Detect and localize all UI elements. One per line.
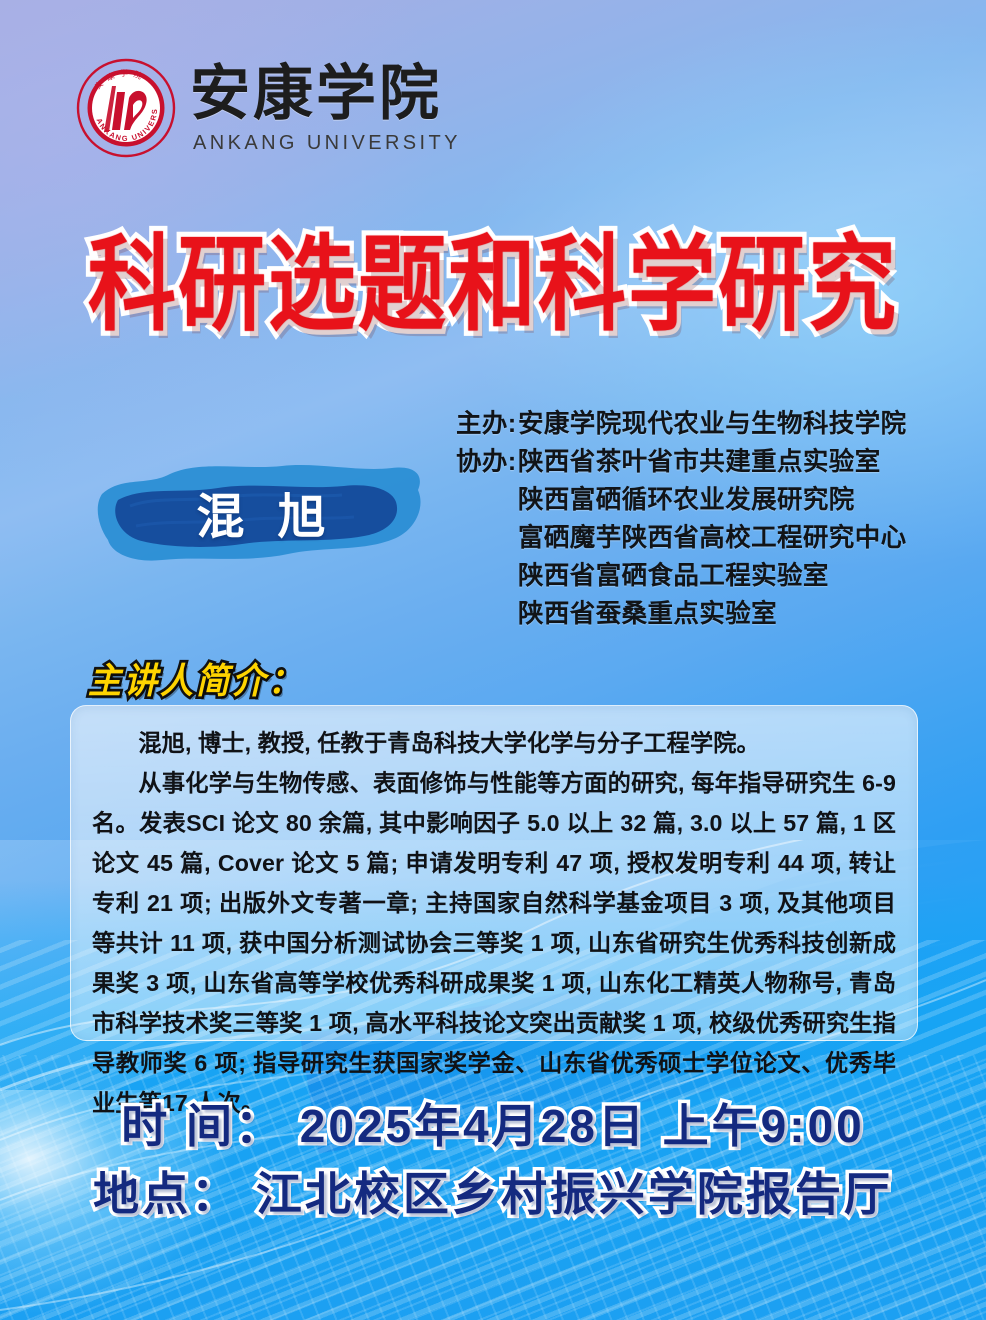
organizer-value: 安康学院现代农业与生物科技学院 [518,405,907,443]
organizer-row: 协办: 陕西省茶叶省市共建重点实验室 [456,443,926,481]
event-time: 时 间： 2025年4月28日 上午9:00 [0,1092,986,1160]
organizer-row: 主办: 安康学院现代农业与生物科技学院 [456,405,926,443]
logo-name-cn: 安康学院 [190,64,461,124]
organizer-value: 陕西省蚕桑重点实验室 [518,595,777,633]
organizer-list: 主办: 安康学院现代农业与生物科技学院 协办: 陕西省茶叶省市共建重点实验室 陕… [456,405,926,633]
organizer-value: 富硒魔芋陕西省高校工程研究中心 [518,519,907,557]
section-heading-speaker-bio: 主讲人简介： [88,652,304,704]
event-place: 地点： 江北校区乡村振兴学院报告厅 [0,1160,986,1228]
organizer-label: 协办: [456,443,518,481]
organizer-row: 富硒魔芋陕西省高校工程研究中心 [456,519,926,557]
speaker-bio-box: 混旭, 博士, 教授, 任教于青岛科技大学化学与分子工程学院。 从事化学与生物传… [70,705,918,1041]
poster-canvas: 安康学院 ANKANG UNIVERSITY 安康学院 ANKANG UNIVE… [0,0,986,1320]
logo-name-en: ANKANG UNIVERSITY [193,133,461,153]
bio-paragraph: 混旭, 博士, 教授, 任教于青岛科技大学化学与分子工程学院。 [92,723,896,763]
speaker-name: 混 旭 [96,460,426,568]
event-details: 时 间： 2025年4月28日 上午9:00 地点： 江北校区乡村振兴学院报告厅 [0,1092,986,1228]
organizer-value: 陕西富硒循环农业发展研究院 [518,481,855,519]
organizer-row: 陕西富硒循环农业发展研究院 [456,481,926,519]
organizer-label: 主办: [456,405,518,443]
university-seal-icon: 安康学院 ANKANG UNIVERSITY [76,58,176,158]
organizer-value: 陕西省富硒食品工程实验室 [518,557,829,595]
organizer-row: 陕西省富硒食品工程实验室 [456,557,926,595]
university-logo: 安康学院 ANKANG UNIVERSITY 安康学院 ANKANG UNIVE… [76,58,461,158]
page-title: 科研选题和科学研究 [0,231,986,340]
bio-paragraph: 从事化学与生物传感、表面修饰与性能等方面的研究, 每年指导研究生 6-9名。发表… [92,763,896,1123]
organizer-row: 陕西省蚕桑重点实验室 [456,595,926,633]
organizer-value: 陕西省茶叶省市共建重点实验室 [518,443,881,481]
speaker-name-banner: 混 旭 [96,460,426,568]
